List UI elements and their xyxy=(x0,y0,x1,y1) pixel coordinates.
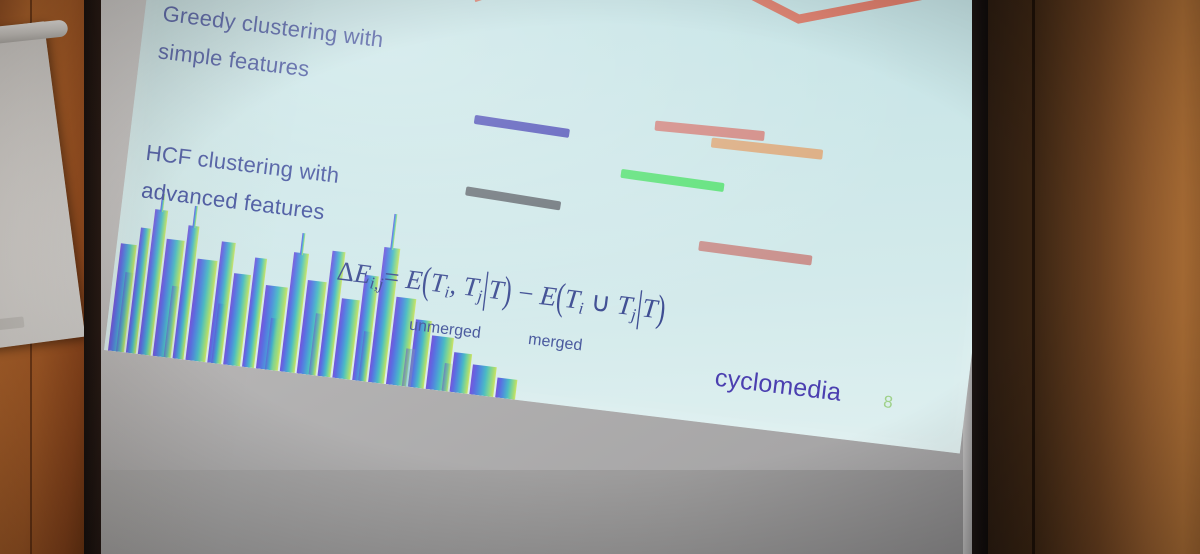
photo-scene: Greedy clustering with simple features H… xyxy=(0,0,1200,554)
screen-frame-left-edge xyxy=(84,0,101,554)
projection-screen-surface-upper xyxy=(98,0,976,470)
wood-wall-right-seam xyxy=(1032,0,1035,554)
wood-wall-right xyxy=(988,0,1200,554)
